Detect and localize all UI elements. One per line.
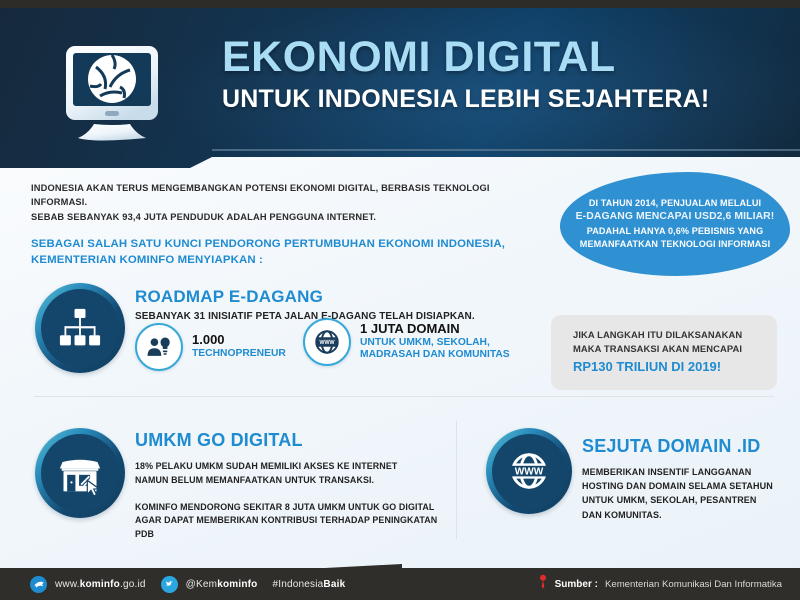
callout-line-4: MEMANFAATKAN TEKNOLOGI INFORMASI	[576, 238, 775, 251]
header-banner: EKONOMI DIGITAL UNTUK INDONESIA LEBIH SE…	[0, 8, 800, 168]
stat-technopreneur-value: 1.000	[192, 333, 286, 348]
footer-links: www.kominfo.go.id @Kemkominfo #Indonesia…	[30, 568, 345, 600]
umkm-para-1-line-2: NAMUN BELUM MEMANFAATKAN UNTUK TRANSAKSI…	[135, 475, 374, 485]
shop-cursor-icon	[41, 434, 119, 512]
stat-technopreneur-label: TECHNOPRENEUR	[192, 348, 286, 361]
note-line-2: MAKA TRANSAKSI AKAN MENCAPAI	[573, 342, 755, 356]
callout-line-3: PADAHAL HANYA 0,6% PEBISNIS YANG	[576, 225, 775, 238]
callout-line-1: DI TAHUN 2014, PENJUALAN MELALUI	[576, 197, 775, 210]
stat-domain-label-2: MADRASAH DAN KOMUNITAS	[360, 349, 510, 362]
page-subtitle: UNTUK INDONESIA LEBIH SEJAHTERA!	[222, 86, 762, 114]
umkm-body: UMKM GO DIGITAL 18% PELAKU UMKM SUDAH ME…	[135, 430, 445, 542]
stat-technopreneur-text: 1.000 TECHNOPRENEUR	[192, 333, 286, 360]
callout-line-2: E-DAGANG MENCAPAI USD2,6 MILIAR!	[576, 210, 775, 225]
umkm-para-2-line-1: KOMINFO MENDORONG SEKITAR 8 JUTA UMKM UN…	[135, 502, 434, 512]
umkm-para-1: 18% PELAKU UMKM SUDAH MEMILIKI AKSES KE …	[135, 460, 445, 488]
roadmap-heading: ROADMAP E-DAGANG	[135, 287, 515, 307]
intro-lead-2: KEMENTERIAN KOMINFO MENYIAPKAN :	[31, 253, 531, 268]
footer-twitter-text: @Kemkominfo	[186, 579, 258, 590]
footer-source: Sumber : Kementerian Komunikasi Dan Info…	[538, 568, 782, 600]
note-line-1: JIKA LANGKAH ITU DILAKSANAKAN	[573, 328, 755, 342]
domain-heading: SEJUTA DOMAIN .ID	[582, 436, 787, 457]
svg-text:WWW: WWW	[515, 466, 544, 477]
intro-text: INDONESIA AKAN TERUS MENGEMBANGKAN POTEN…	[31, 181, 531, 268]
technopreneur-icon	[135, 323, 183, 371]
www-globe-icon: WWW	[303, 318, 351, 366]
domain-para-line-3: UNTUK UMKM, SEKOLAH, PESANTREN	[582, 495, 757, 505]
footer-website[interactable]: www.kominfo.go.id	[30, 576, 146, 593]
infographic-poster: EKONOMI DIGITAL UNTUK INDONESIA LEBIH SE…	[0, 0, 800, 600]
intro-line-2: SEBAB SEBANYAK 93,4 JUTA PENDUDUK ADALAH…	[31, 210, 531, 224]
svg-text:WWW: WWW	[320, 340, 335, 346]
stat-domain: WWW 1 JUTA DOMAIN UNTUK UMKM, SEKOLAH, M…	[303, 318, 510, 366]
header-hairline	[212, 149, 800, 151]
horizontal-divider	[34, 396, 774, 397]
domain-body: SEJUTA DOMAIN .ID MEMBERIKAN INSENTIF LA…	[582, 436, 787, 522]
monitor-globe-icon	[52, 34, 172, 154]
footer-hashtag[interactable]: #IndonesiaBaik	[272, 579, 345, 590]
shop-badge	[35, 428, 125, 518]
callout-blob: DI TAHUN 2014, PENJUALAN MELALUI E-DAGAN…	[560, 172, 790, 276]
footer-website-text: www.kominfo.go.id	[55, 579, 146, 590]
umkm-para-2-line-2: AGAR DAPAT MEMBERIKAN KONTRIBUSI TERHADA…	[135, 515, 437, 539]
domain-para-line-4: DAN KOMUNITAS.	[582, 510, 662, 520]
top-strip	[0, 0, 800, 8]
footer-source-value: Kementerian Komunikasi Dan Informatika	[605, 579, 782, 590]
section-umkm: UMKM GO DIGITAL 18% PELAKU UMKM SUDAH ME…	[35, 425, 445, 540]
kominfo-logo-icon	[30, 576, 47, 593]
domain-para-line-2: HOSTING DAN DOMAIN SELAMA SETAHUN	[582, 481, 773, 491]
domain-para-line-1: MEMBERIKAN INSENTIF LANGGANAN	[582, 467, 751, 477]
domain-para: MEMBERIKAN INSENTIF LANGGANAN HOSTING DA…	[582, 465, 787, 522]
pin-icon	[538, 574, 548, 594]
roadmap-body: ROADMAP E-DAGANG SEBANYAK 31 INISIATIF P…	[135, 287, 515, 322]
stat-domain-label-1: UNTUK UMKM, SEKOLAH,	[360, 337, 510, 350]
umkm-para-1-line-1: 18% PELAKU UMKM SUDAH MEMILIKI AKSES KE …	[135, 461, 397, 471]
note-box: JIKA LANGKAH ITU DILAKSANAKAN MAKA TRANS…	[551, 315, 777, 390]
footer-twitter[interactable]: @Kemkominfo	[161, 576, 258, 593]
section-roadmap: ROADMAP E-DAGANG SEBANYAK 31 INISIATIF P…	[35, 283, 515, 391]
intro-lead-1: SEBAGAI SALAH SATU KUNCI PENDORONG PERTU…	[31, 237, 531, 252]
stat-domain-text: 1 JUTA DOMAIN UNTUK UMKM, SEKOLAH, MADRA…	[360, 322, 510, 362]
umkm-heading: UMKM GO DIGITAL	[135, 430, 445, 451]
section-domain: WWW SEJUTA DOMAIN .ID MEMBERIKAN INSENTI…	[486, 425, 786, 540]
org-chart-icon	[41, 289, 119, 367]
org-chart-badge	[35, 283, 125, 373]
vertical-divider	[456, 421, 457, 539]
stat-domain-value: 1 JUTA DOMAIN	[360, 322, 510, 337]
domain-badge: WWW	[486, 428, 572, 514]
www-globe-icon: WWW	[492, 434, 567, 509]
umkm-para-2: KOMINFO MENDORONG SEKITAR 8 JUTA UMKM UN…	[135, 501, 445, 542]
footer-source-label: Sumber :	[555, 579, 598, 590]
stat-technopreneur: 1.000 TECHNOPRENEUR	[135, 323, 286, 371]
title-block: EKONOMI DIGITAL UNTUK INDONESIA LEBIH SE…	[222, 36, 762, 113]
intro-line-1: INDONESIA AKAN TERUS MENGEMBANGKAN POTEN…	[31, 181, 531, 210]
page-title: EKONOMI DIGITAL	[222, 36, 762, 80]
twitter-bird-icon	[161, 576, 178, 593]
note-highlight: RP130 TRILIUN DI 2019!	[573, 358, 755, 377]
roadmap-stats: 1.000 TECHNOPRENEUR WWW	[135, 323, 555, 373]
callout-blob-text: DI TAHUN 2014, PENJUALAN MELALUI E-DAGAN…	[566, 197, 785, 250]
